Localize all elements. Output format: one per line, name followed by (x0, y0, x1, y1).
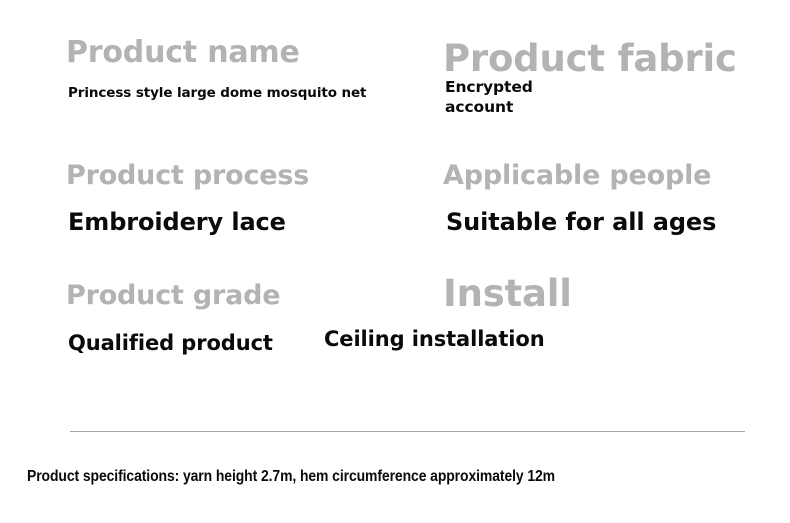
field-label-applicable-people: Applicable people (443, 162, 716, 189)
field-install-value-wrap: Ceiling installation (324, 326, 545, 352)
field-value-product-process: Embroidery lace (68, 207, 309, 237)
field-product-fabric: Product fabric Encrypted account (443, 40, 737, 118)
product-spec-sheet: Product name Princess style large dome m… (0, 0, 790, 523)
field-label-product-process: Product process (66, 162, 309, 189)
field-product-name: Product name Princess style large dome m… (66, 38, 366, 102)
field-install: Install (443, 275, 572, 312)
field-value-install: Ceiling installation (324, 326, 545, 352)
footer-specifications-text: Product specifications: yarn height 2.7m… (27, 468, 555, 486)
field-value-product-fabric: Encrypted account (445, 78, 555, 118)
field-product-process: Product process Embroidery lace (66, 162, 309, 237)
field-label-product-name: Product name (66, 38, 366, 68)
section-divider (70, 431, 745, 432)
field-value-product-grade: Qualified product (68, 330, 280, 356)
field-applicable-people: Applicable people Suitable for all ages (443, 162, 716, 237)
field-label-product-fabric: Product fabric (443, 40, 737, 77)
field-label-product-grade: Product grade (66, 282, 280, 309)
field-value-product-name: Princess style large dome mosquito net (68, 85, 366, 102)
field-product-grade: Product grade Qualified product (66, 282, 280, 356)
field-value-applicable-people: Suitable for all ages (446, 207, 716, 237)
field-label-install: Install (443, 275, 572, 312)
